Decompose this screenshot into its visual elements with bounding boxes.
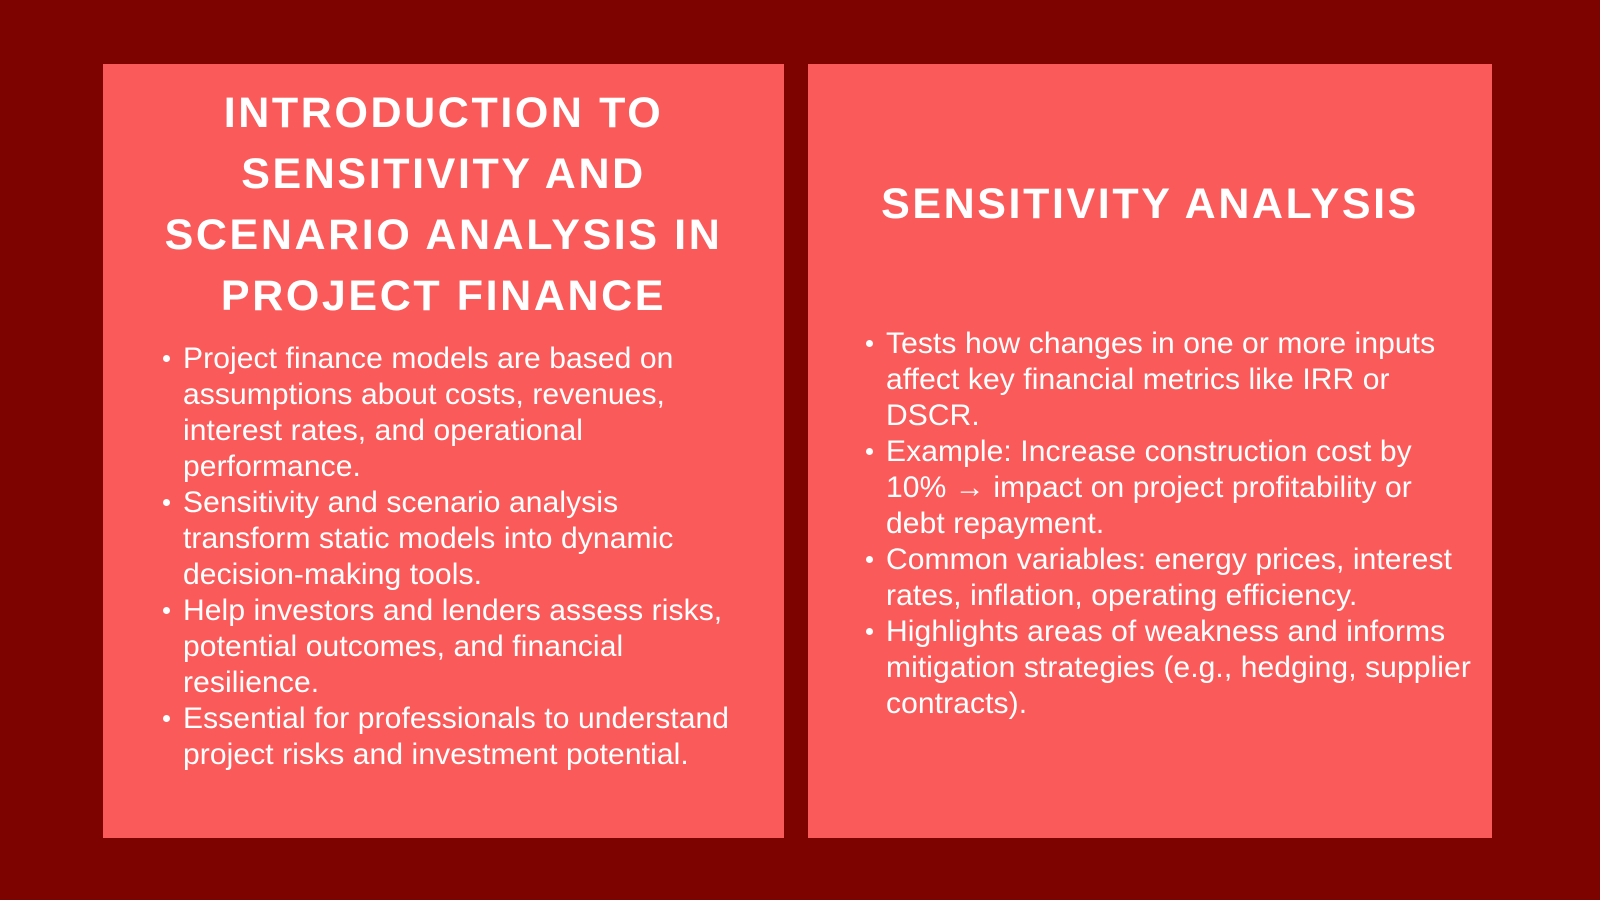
list-item: Common variables: energy prices, interes… xyxy=(866,542,1474,614)
list-item: Essential for professionals to understan… xyxy=(163,701,754,773)
list-item-text: Common variables: energy prices, interes… xyxy=(886,543,1452,612)
list-item: Help investors and lenders assess risks,… xyxy=(163,593,754,701)
list-item: Sensitivity and scenario analysis transf… xyxy=(163,485,754,593)
slide-root: INTRODUCTION TO SENSITIVITY AND SCENARIO… xyxy=(0,0,1600,900)
list-item-text: Help investors and lenders assess risks,… xyxy=(183,594,722,699)
list-item-text: Example: Increase construction cost by 1… xyxy=(886,435,1412,540)
introduction-panel: INTRODUCTION TO SENSITIVITY AND SCENARIO… xyxy=(103,64,784,838)
list-item-text: Highlights areas of weakness and informs… xyxy=(886,615,1471,720)
bullet-dot-icon xyxy=(163,607,170,614)
bullet-dot-icon xyxy=(866,340,873,347)
bullet-dot-icon xyxy=(163,499,170,506)
list-item: Example: Increase construction cost by 1… xyxy=(866,434,1474,542)
list-item-text: Tests how changes in one or more inputs … xyxy=(886,327,1435,432)
bullet-dot-icon xyxy=(866,628,873,635)
bullet-dot-icon xyxy=(866,448,873,455)
bullet-dot-icon xyxy=(163,355,170,362)
list-item: Project finance models are based on assu… xyxy=(163,341,754,485)
list-item: Tests how changes in one or more inputs … xyxy=(866,326,1474,434)
list-item: Highlights areas of weakness and informs… xyxy=(866,614,1474,722)
introduction-panel-bullet-list: Project finance models are based on assu… xyxy=(103,341,784,773)
sensitivity-analysis-panel: SENSITIVITY ANALYSIS Tests how changes i… xyxy=(808,64,1492,838)
list-item-text: Project finance models are based on assu… xyxy=(183,342,673,483)
bullet-dot-icon xyxy=(163,715,170,722)
list-item-text: Essential for professionals to understan… xyxy=(183,702,729,771)
list-item-text: Sensitivity and scenario analysis transf… xyxy=(183,486,673,591)
bullet-dot-icon xyxy=(866,556,873,563)
introduction-panel-title: INTRODUCTION TO SENSITIVITY AND SCENARIO… xyxy=(103,64,784,327)
sensitivity-analysis-bullet-list: Tests how changes in one or more inputs … xyxy=(808,326,1492,722)
sensitivity-analysis-panel-title: SENSITIVITY ANALYSIS xyxy=(808,64,1492,235)
